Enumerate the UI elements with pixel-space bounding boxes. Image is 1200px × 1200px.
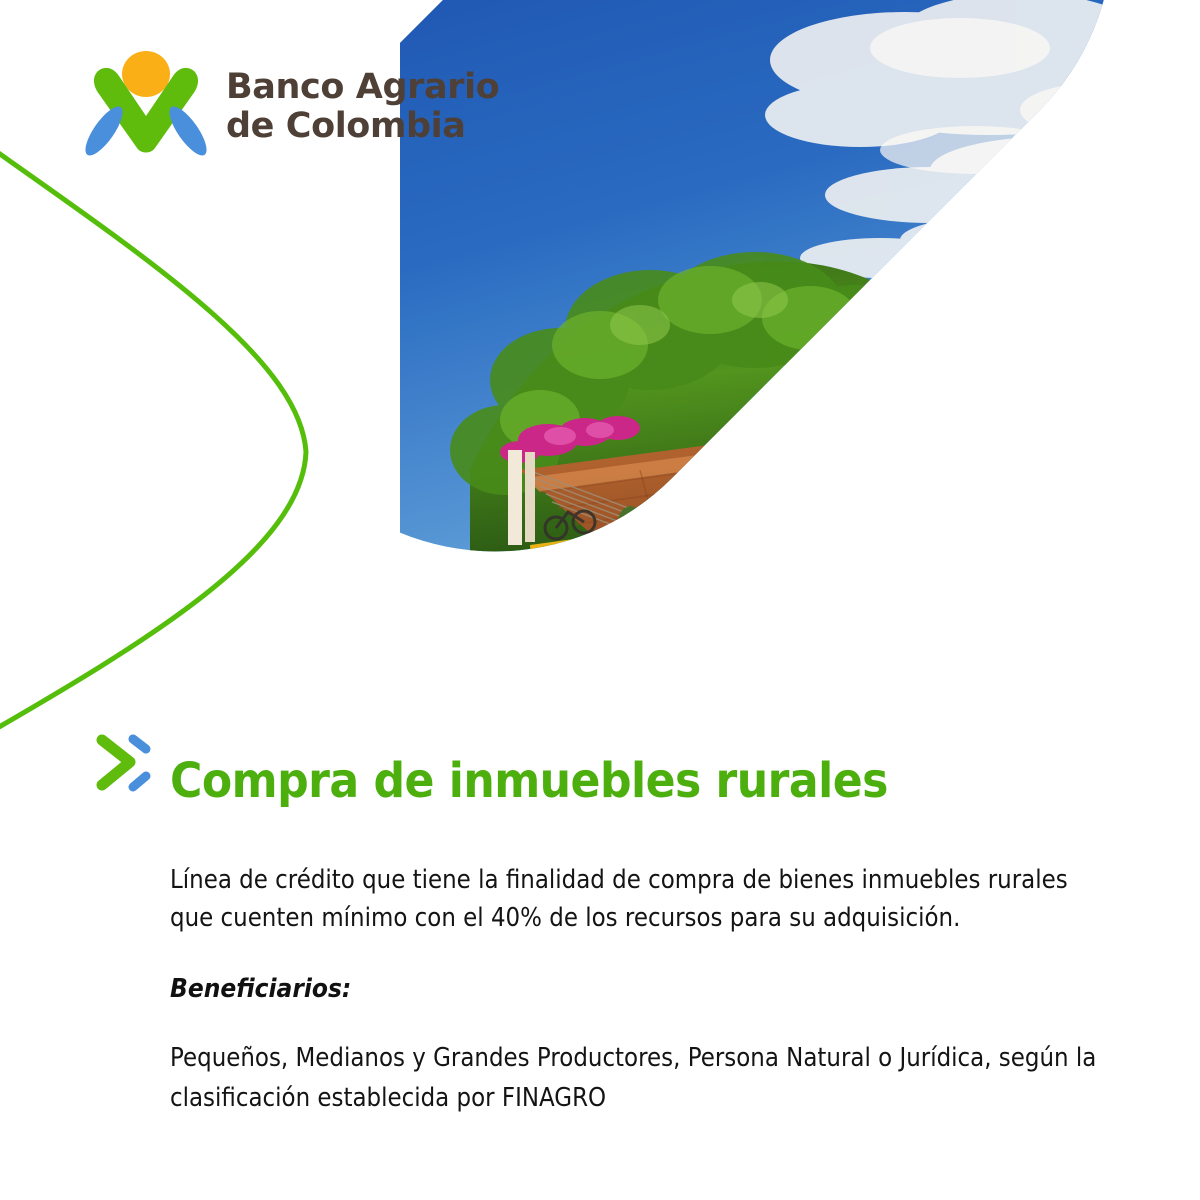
poster-canvas: Banco Agrario de Colombia Compra de inmu…	[0, 0, 1200, 1200]
hero-photo-content	[400, 0, 1200, 840]
content-block: Compra de inmuebles rurales Línea de cré…	[96, 724, 1106, 1144]
beneficiaries-heading: Beneficiarios:	[170, 974, 1012, 1004]
banco-agrario-logo-icon	[80, 48, 212, 166]
pedestrian	[618, 506, 650, 604]
brand-name: Banco Agrario de Colombia	[226, 68, 499, 146]
church-tower	[908, 231, 1050, 462]
beneficiaries-text: Pequeños, Medianos y Grandes Productores…	[170, 1038, 1097, 1119]
palm-fronds	[838, 432, 1200, 660]
title-row: Compra de inmuebles rurales	[96, 724, 1106, 839]
description-text: Línea de crédito que tiene la finalidad …	[170, 861, 1097, 939]
double-chevron-right-icon	[96, 732, 154, 794]
page-title: Compra de inmuebles rurales	[170, 756, 888, 806]
brand-logo: Banco Agrario de Colombia	[80, 48, 499, 166]
